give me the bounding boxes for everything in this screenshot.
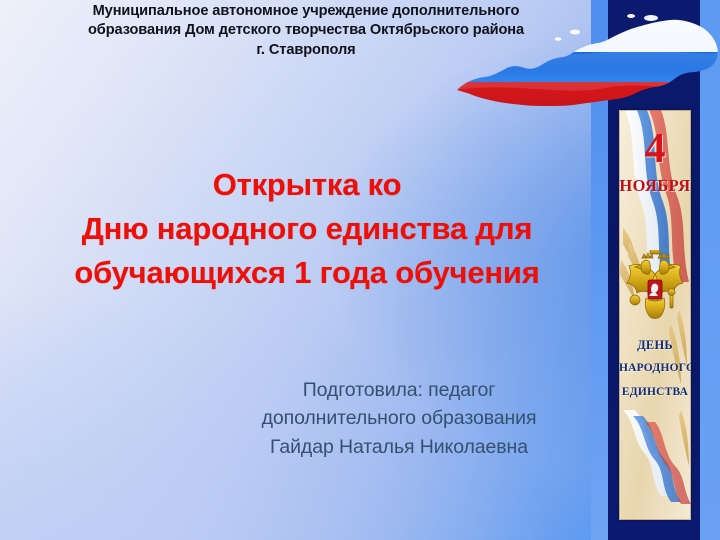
- header-line-1: Муниципальное автономное учреждение допо…: [10, 2, 602, 21]
- unity-day-poster: 4 НОЯБРЯ ДЕНЬ НАРОДНОГО ЕДИНСТВА: [619, 110, 691, 520]
- russian-coat-of-arms-icon: [622, 250, 688, 326]
- author-line-2: дополнительного образования: [200, 404, 598, 432]
- author-line-1: Подготовила: педагог: [200, 376, 598, 404]
- slide-title: Открытка ко Дню народного единства для о…: [22, 163, 592, 295]
- author-line-3: Гайдар Наталья Николаевна: [200, 433, 598, 461]
- title-line-1: Открытка ко: [22, 163, 592, 207]
- title-line-2: Дню народного единства для: [22, 207, 592, 251]
- presentation-slide: Муниципальное автономное учреждение допо…: [0, 0, 720, 540]
- header-line-2: образования Дом детского творчества Октя…: [10, 21, 602, 40]
- slide-author-credit: Подготовила: педагог дополнительного обр…: [200, 376, 598, 461]
- title-line-3: обучающихся 1 года обучения: [22, 251, 592, 295]
- header-line-3: г. Ставрополя: [10, 41, 602, 60]
- slide-header: Муниципальное автономное учреждение допо…: [0, 2, 612, 60]
